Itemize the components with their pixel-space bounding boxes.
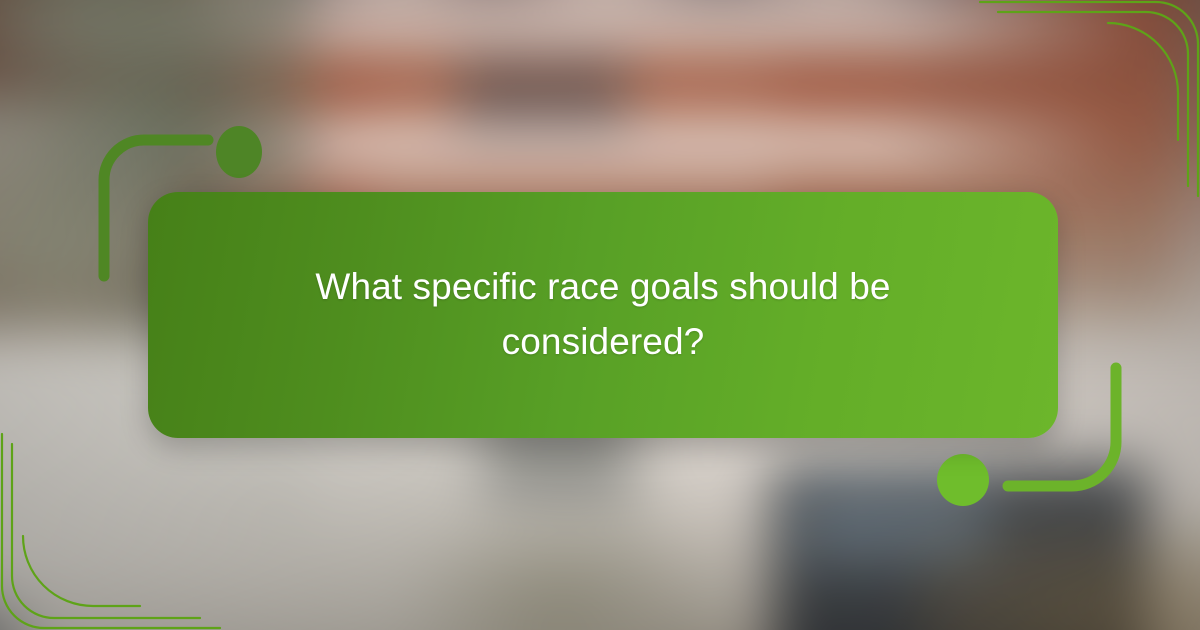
background-shrub-left <box>0 591 52 630</box>
background-shrub-center <box>398 516 715 630</box>
question-card: What specific race goals should be consi… <box>148 192 1058 438</box>
question-text: What specific race goals should be consi… <box>293 260 913 370</box>
question-card-graphic: What specific race goals should be consi… <box>0 0 1200 630</box>
background-mulch-bed <box>917 533 1200 630</box>
background-window-dark-upper <box>456 55 629 130</box>
